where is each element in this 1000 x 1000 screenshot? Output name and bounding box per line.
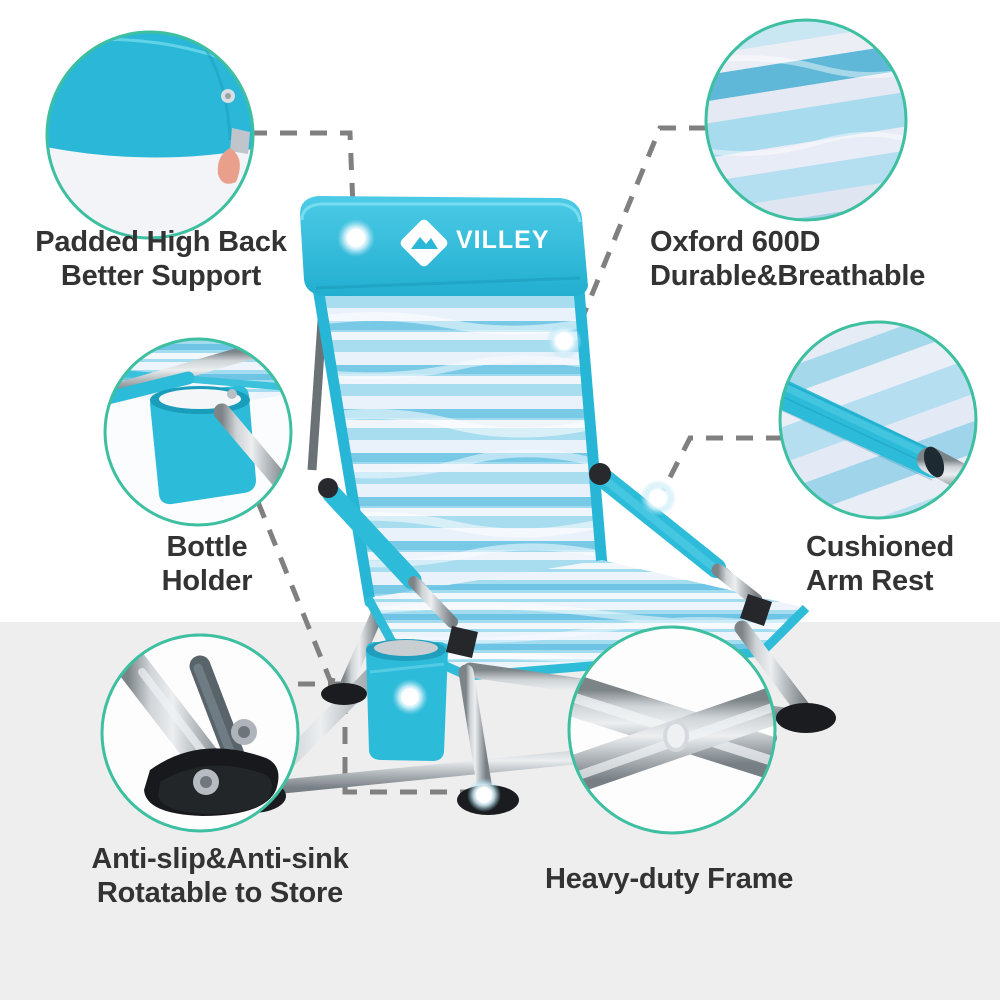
callout-circle-oxford-600d bbox=[675, 0, 947, 259]
caption-heavy-duty-frame: Heavy-duty Frame bbox=[545, 863, 845, 897]
caption-cushioned-arm-rest: Cushioned Arm Rest bbox=[806, 531, 1000, 598]
callout-circle-cushioned-arm-rest bbox=[729, 271, 1000, 546]
anchor-dot-oxford-600d bbox=[546, 323, 582, 359]
caption-bottle-holder: Bottle Holder bbox=[92, 531, 322, 598]
caption-oxford-600d: Oxford 600D Durable&Breathable bbox=[650, 226, 980, 293]
anchor-dot-padded-high-back bbox=[337, 219, 375, 257]
connector-cushioned-arm-rest bbox=[662, 438, 783, 493]
callout-circle-anti-slip bbox=[102, 635, 298, 831]
brand-logo-wordmark: VILLEY bbox=[456, 226, 550, 254]
caption-anti-slip: Anti-slip&Anti-sink Rotatable to Store bbox=[60, 843, 380, 910]
infographic-canvas: VILLEY bbox=[0, 0, 1000, 1000]
anchor-dot-anti-slip bbox=[467, 778, 501, 812]
callout-circle-bottle-holder bbox=[100, 336, 300, 525]
anchor-dot-cushioned-arm-rest bbox=[640, 480, 676, 516]
caption-padded-high-back: Padded High Back Better Support bbox=[16, 226, 306, 293]
chair-front-center-leg bbox=[466, 672, 486, 796]
anchor-dot-bottle-holder bbox=[392, 679, 428, 715]
